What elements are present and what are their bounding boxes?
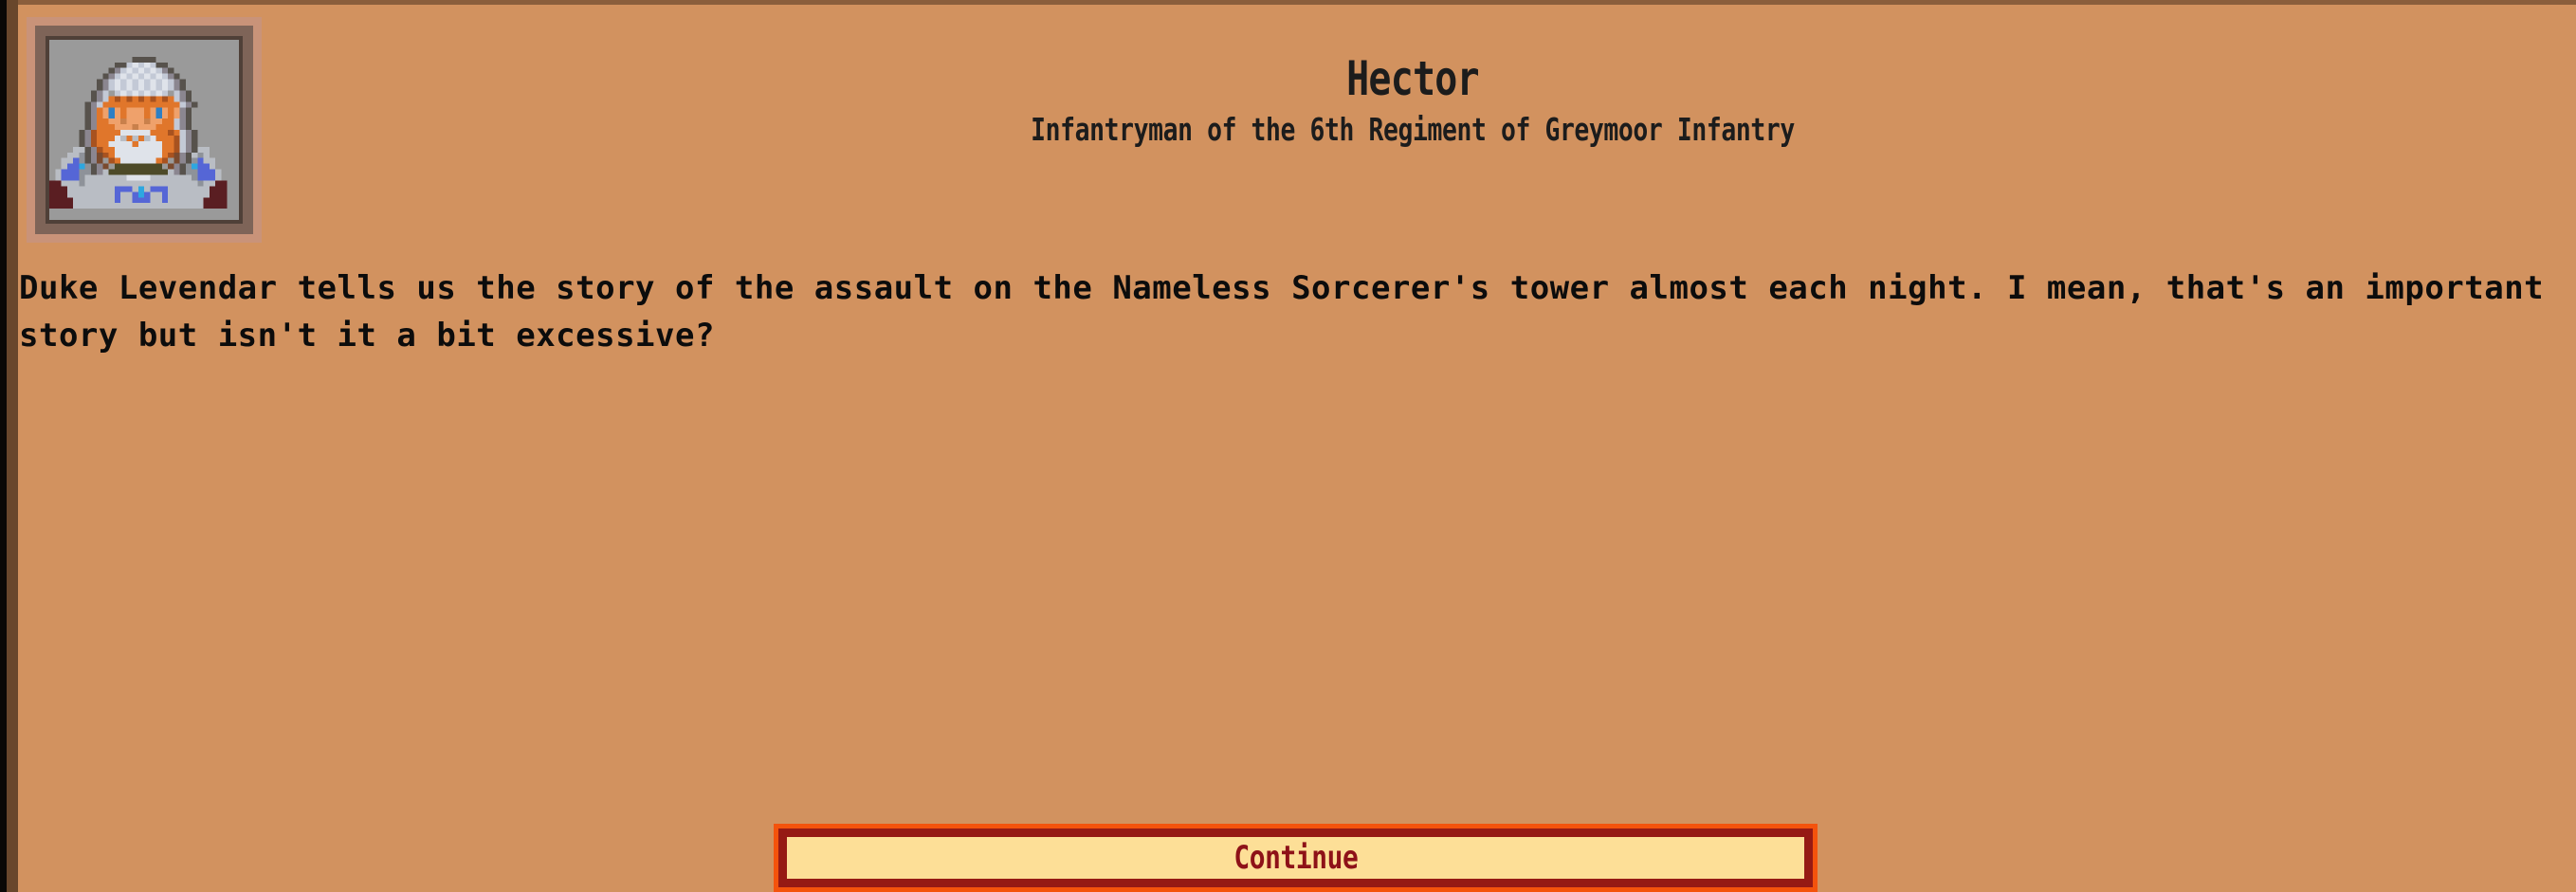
continue-button[interactable]: Continue — [774, 824, 1818, 892]
speaker-header: Hector Infantryman of the 6th Regiment o… — [284, 55, 2541, 145]
continue-button-inner-border: Continue — [778, 828, 1813, 887]
screen-top-border — [0, 0, 2576, 5]
speaker-portrait-image — [49, 40, 239, 220]
screen-left-border-brown — [7, 0, 18, 892]
dialogue-screen: Hector Infantryman of the 6th Regiment o… — [0, 0, 2576, 892]
continue-button-label: Continue — [1233, 839, 1358, 877]
portrait-frame-mid — [35, 26, 253, 234]
portrait-frame — [27, 17, 262, 243]
dialogue-text: Duke Levendar tells us the story of the … — [19, 265, 2569, 360]
speaker-name: Hector — [510, 55, 2315, 102]
portrait-frame-inner — [46, 36, 243, 224]
continue-button-face: Continue — [787, 837, 1804, 879]
speaker-title: Infantryman of the 6th Regiment of Greym… — [510, 114, 2315, 145]
screen-left-border-dark — [0, 0, 7, 892]
